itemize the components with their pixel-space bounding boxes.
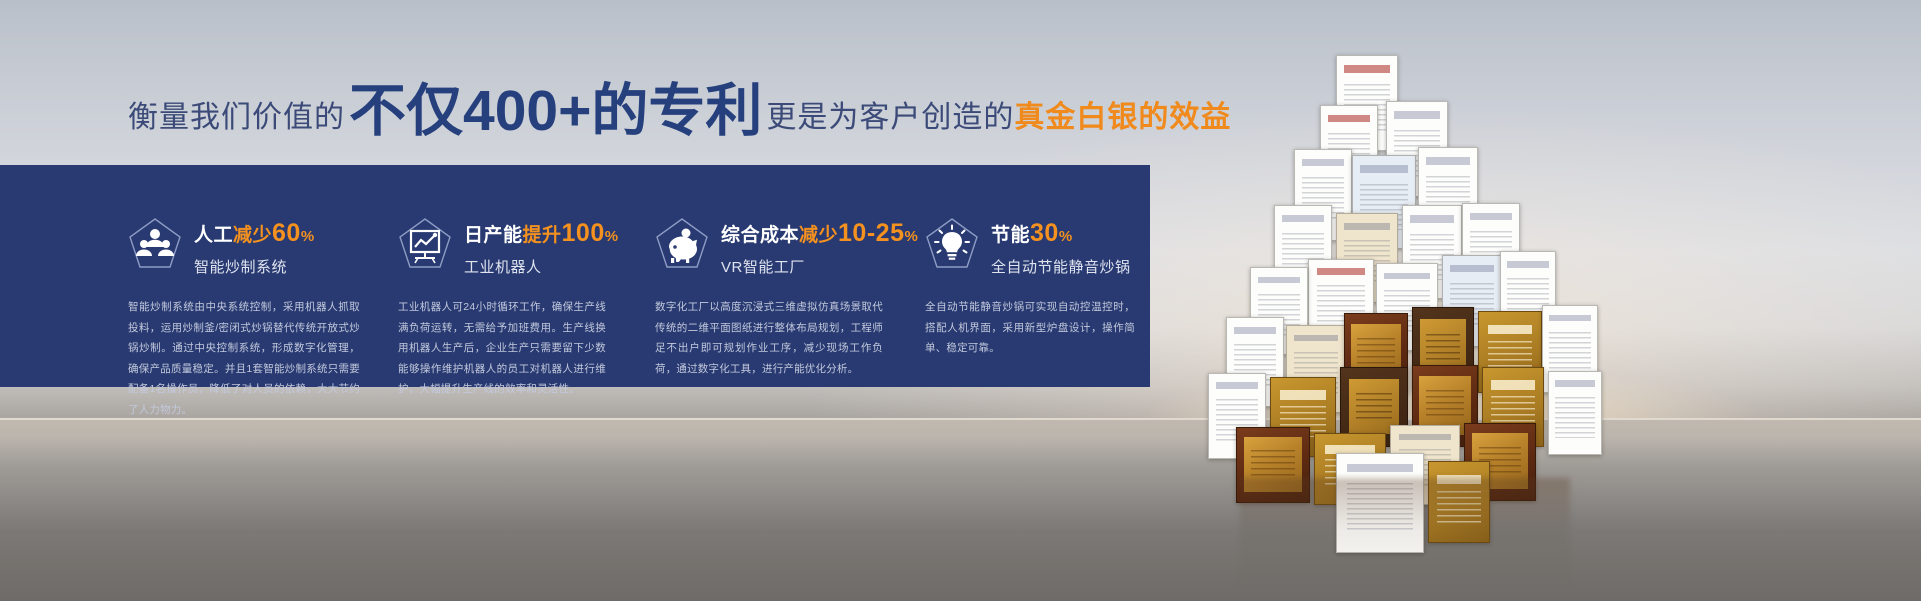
feature-header: 综合成本减少10-25% VR智能工厂	[655, 215, 905, 277]
feature-text: 综合成本减少10-25% VR智能工厂	[721, 215, 918, 277]
feature-unit: %	[904, 228, 918, 245]
certificate-item	[1548, 371, 1602, 455]
feature-value: 30	[1030, 219, 1059, 247]
chart-board-icon	[398, 217, 452, 273]
feature-title-prefix: 节能	[991, 225, 1030, 246]
feature-header: 人工减少60% 智能炒制系统	[128, 215, 378, 277]
feature-title-prefix: 日产能	[464, 225, 523, 246]
headline-middle: 更是为客户创造的	[766, 92, 1014, 136]
feature-item-cost: 综合成本减少10-25% VR智能工厂 数字化工厂以高度沉浸式三维虚拟仿真场景取…	[655, 215, 905, 379]
page-headline: 衡量我们价值的 不仅400+的专利 更是为客户创造的 真金白银的效益	[128, 80, 1228, 140]
certificate-reflection	[1240, 478, 1570, 588]
feature-value: 100	[562, 219, 605, 247]
feature-header: 节能30% 全自动节能静音炒锅	[925, 215, 1150, 277]
feature-text: 日产能提升100% 工业机器人	[464, 215, 619, 277]
feature-value: 60	[272, 219, 301, 247]
feature-item-energy: 节能30% 全自动节能静音炒锅 全自动节能静音炒锅可实现自动控温控时，搭配人机界…	[925, 215, 1150, 359]
feature-title-highlight: 提升	[523, 225, 562, 246]
feature-subtitle: 全自动节能静音炒锅	[991, 256, 1131, 277]
headline-emphasis: 不仅400+的专利	[349, 83, 762, 140]
feature-unit: %	[1059, 228, 1073, 245]
feature-body: 智能炒制系统由中央系统控制，采用机器人抓取投料，运用炒制釜/密闭式炒锅替代传统开…	[128, 297, 360, 420]
feature-item-labor: 人工减少60% 智能炒制系统 智能炒制系统由中央系统控制，采用机器人抓取投料，运…	[128, 215, 378, 420]
feature-subtitle: 工业机器人	[464, 256, 619, 277]
feature-panel: 人工减少60% 智能炒制系统 智能炒制系统由中央系统控制，采用机器人抓取投料，运…	[0, 165, 1150, 387]
feature-title-highlight: 减少	[799, 225, 838, 246]
feature-title: 节能30%	[991, 218, 1131, 249]
feature-header: 日产能提升100% 工业机器人	[398, 215, 638, 277]
feature-subtitle: VR智能工厂	[721, 256, 918, 277]
people-group-icon	[128, 217, 182, 273]
feature-unit: %	[605, 228, 619, 245]
lightbulb-icon	[925, 217, 979, 273]
feature-item-capacity: 日产能提升100% 工业机器人 工业机器人可24小时循环工作，确保生产线满负荷运…	[398, 215, 638, 400]
headline-prefix: 衡量我们价值的	[128, 92, 345, 136]
feature-title: 综合成本减少10-25%	[721, 218, 918, 249]
feature-title: 日产能提升100%	[464, 218, 619, 249]
feature-value: 10-25	[838, 219, 904, 247]
feature-title-prefix: 人工	[194, 225, 233, 246]
piggy-bank-icon	[655, 217, 709, 273]
feature-unit: %	[301, 228, 315, 245]
sea-shine	[0, 418, 1921, 601]
feature-text: 人工减少60% 智能炒制系统	[194, 215, 315, 277]
feature-body: 全自动节能静音炒锅可实现自动控温控时，搭配人机界面，采用新型炉盘设计，操作简单、…	[925, 297, 1135, 358]
feature-body: 数字化工厂以高度沉浸式三维虚拟仿真场景取代传统的二维平面图纸进行整体布局规划，工…	[655, 297, 883, 379]
feature-title-highlight: 减少	[233, 225, 272, 246]
feature-title: 人工减少60%	[194, 218, 315, 249]
feature-body: 工业机器人可24小时循环工作，确保生产线满负荷运转，无需给予加班费用。生产线换用…	[398, 297, 606, 399]
feature-subtitle: 智能炒制系统	[194, 256, 315, 277]
feature-text: 节能30% 全自动节能静音炒锅	[991, 215, 1131, 277]
feature-title-prefix: 综合成本	[721, 225, 799, 246]
feature-list: 人工减少60% 智能炒制系统 智能炒制系统由中央系统控制，采用机器人抓取投料，运…	[0, 165, 1150, 387]
certificate-award-stack	[1190, 55, 1610, 525]
